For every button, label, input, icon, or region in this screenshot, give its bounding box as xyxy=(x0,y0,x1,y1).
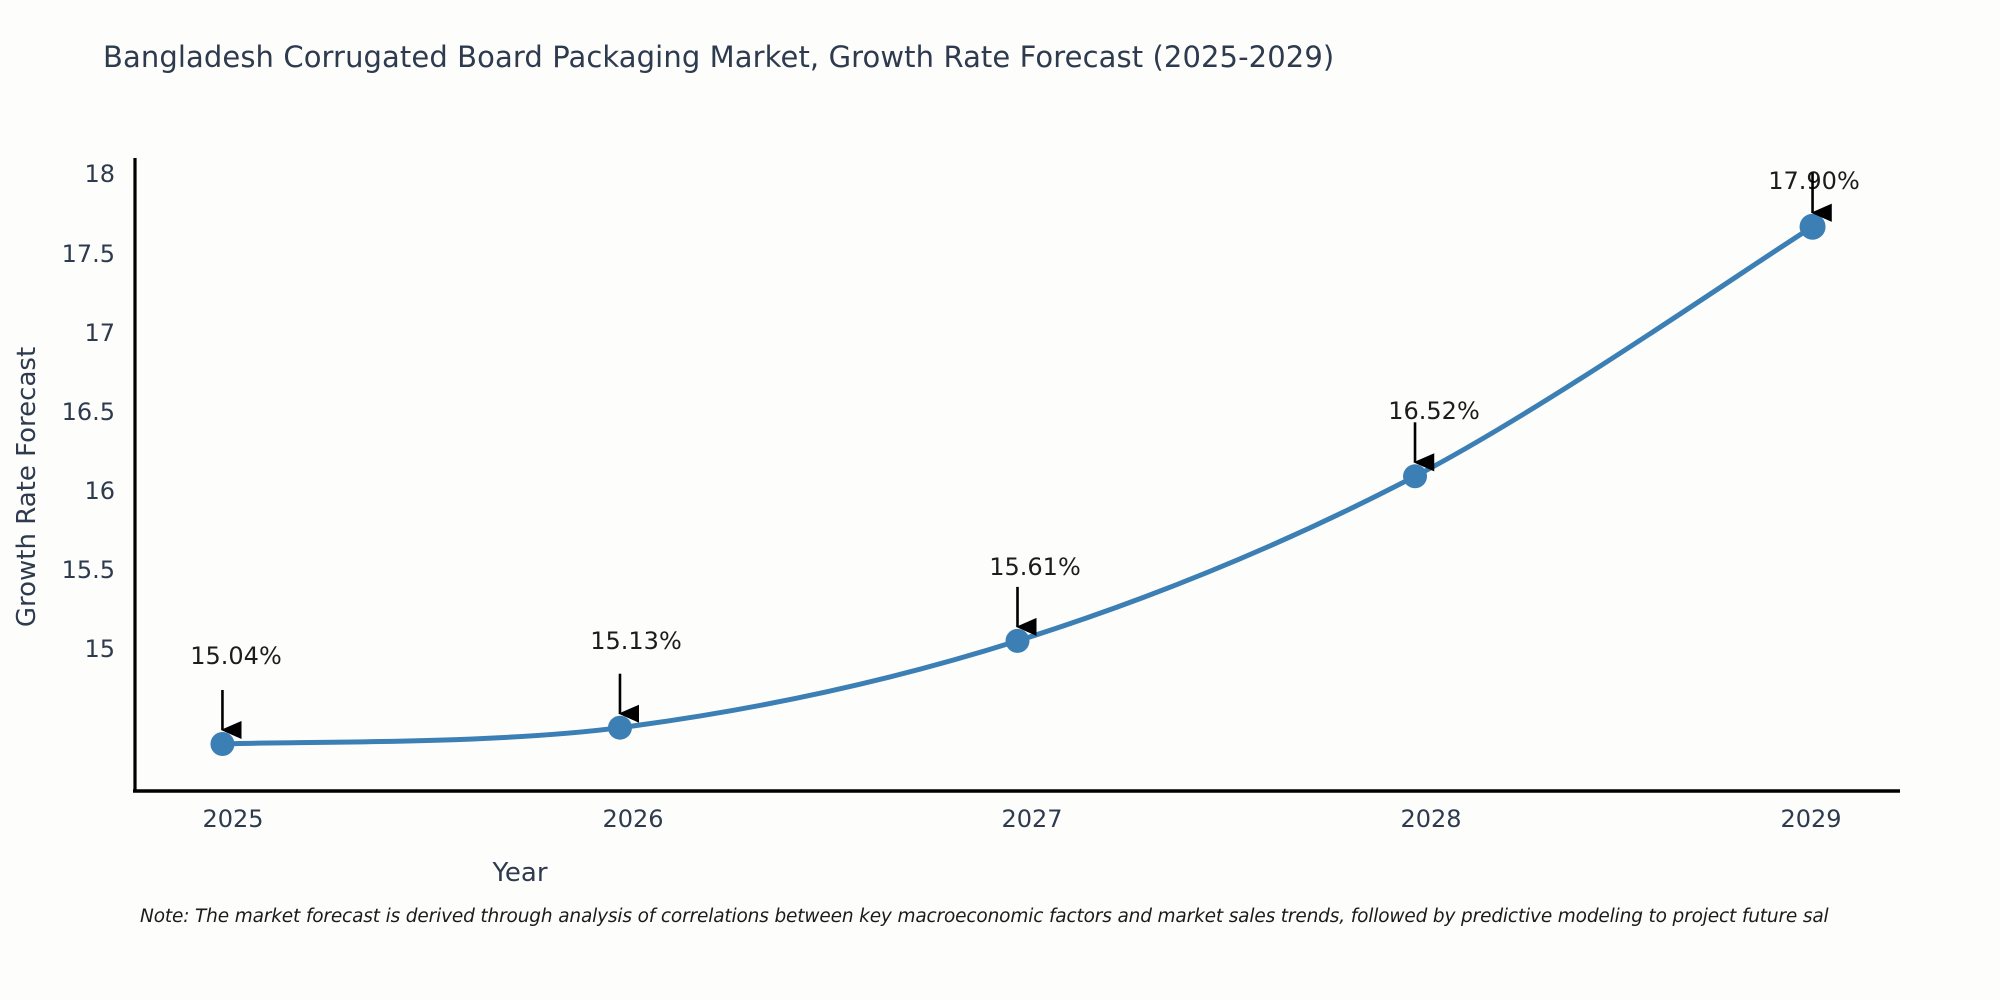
data-point-marker xyxy=(1403,464,1427,488)
data-point-marker xyxy=(1800,214,1826,240)
chart-container: Bangladesh Corrugated Board Packaging Ma… xyxy=(0,0,2000,1000)
data-point-marker xyxy=(210,732,234,756)
plot-svg xyxy=(0,0,2000,1000)
data-point-marker xyxy=(608,716,632,740)
data-point-markers xyxy=(210,214,1825,756)
data-point-marker xyxy=(1006,629,1030,653)
data-series-line xyxy=(222,227,1812,744)
